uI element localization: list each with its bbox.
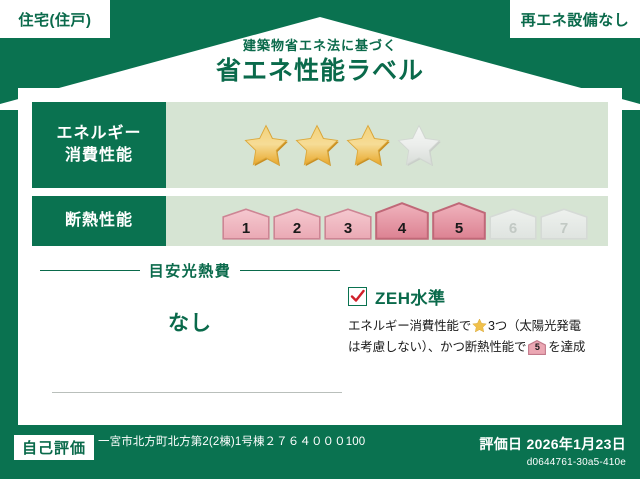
grade-number: 1	[222, 221, 270, 236]
grade-number: 6	[489, 221, 537, 236]
energy-performance-label-line1: エネルギー	[56, 123, 141, 145]
energy-performance-value	[166, 102, 608, 188]
header-title-block: 建築物省エネ法に基づく 省エネ性能ラベル	[0, 38, 640, 87]
energy-performance-label: エネルギー 消費性能	[32, 102, 166, 188]
insulation-performance-value: 1234567	[166, 196, 608, 246]
footer-date-block: 評価日 2026年1月23日 d0644761-30a5-410e	[479, 434, 626, 468]
utility-cost-rule-left	[40, 270, 140, 271]
footer-evaluation-date: 評価日 2026年1月23日	[479, 434, 626, 454]
insulation-grade-6: 6	[489, 208, 537, 240]
zeh-description: エネルギー消費性能で 3つ（太陽光発電は考慮しない）、かつ断熱性能で 5 を達成	[348, 316, 610, 357]
zeh-desc-star-count: 3つ（太陽光発電	[488, 319, 581, 333]
badge-building-type: 住宅(住戸)	[0, 0, 110, 38]
star-filled-icon	[346, 123, 390, 167]
grade-number: 3	[324, 221, 372, 236]
insulation-grade-7: 7	[540, 208, 588, 240]
badge-building-type-label: 住宅(住戸)	[19, 9, 92, 30]
insulation-grade-3: 3	[324, 208, 372, 240]
utility-cost-heading: 目安光熱費	[40, 260, 340, 281]
insulation-grade-2: 2	[273, 208, 321, 240]
check-icon	[350, 289, 365, 304]
inline-star-icon	[472, 318, 487, 333]
insulation-grade-1: 1	[222, 208, 270, 240]
footer: 自己評価 一宮市北方町北方第2(2棟)1号棟２７６４０００100 評価日 202…	[0, 425, 640, 479]
badge-renewable-energy-label: 再エネ設備なし	[521, 9, 630, 30]
zeh-desc-part3: を達成	[548, 340, 585, 354]
star-empty-icon	[397, 123, 441, 167]
utility-cost-underline	[52, 392, 342, 393]
header-title: 省エネ性能ラベル	[0, 56, 640, 87]
grade-number: 4	[375, 221, 429, 236]
inline-grade-badge: 5	[528, 340, 546, 355]
star-filled-icon	[295, 123, 339, 167]
grade-number: 2	[273, 221, 321, 236]
grade-number: 7	[540, 221, 588, 236]
zeh-block: ZEH水準 エネルギー消費性能で 3つ（太陽光発電は考慮しない）、かつ断熱性能で…	[348, 284, 610, 357]
grade-number: 5	[432, 221, 486, 236]
zeh-desc-part2: は考慮しない）、かつ断熱性能で	[348, 340, 526, 354]
inline-grade-number: 5	[528, 343, 546, 352]
footer-address: 一宮市北方町北方第2(2棟)1号棟２７６４０００100	[98, 434, 428, 451]
zeh-checkbox[interactable]	[348, 287, 367, 306]
zeh-title: ZEH水準	[375, 284, 446, 309]
star-filled-icon	[244, 123, 288, 167]
zeh-heading: ZEH水準	[348, 284, 610, 309]
footer-evaluation-type-label: 自己評価	[22, 437, 86, 458]
footer-evaluation-type-badge: 自己評価	[14, 435, 94, 460]
badge-renewable-energy: 再エネ設備なし	[510, 0, 640, 38]
label-card: エネルギー 消費性能 断熱性能 1234567 目安光熱費 なし	[18, 88, 622, 425]
insulation-performance-label-text: 断熱性能	[65, 210, 133, 232]
energy-performance-row: エネルギー 消費性能	[32, 102, 608, 188]
utility-cost-value: なし	[40, 307, 340, 337]
footer-document-id: d0644761-30a5-410e	[479, 457, 626, 468]
insulation-performance-label: 断熱性能	[32, 196, 166, 246]
zeh-desc-part1: エネルギー消費性能で	[348, 319, 471, 333]
star-rating	[244, 123, 441, 167]
utility-cost-heading-text: 目安光熱費	[149, 260, 232, 281]
insulation-grade-5: 5	[432, 202, 486, 240]
insulation-grade-list: 1234567	[222, 202, 588, 240]
utility-cost-rule-right	[240, 270, 340, 271]
insulation-performance-row: 断熱性能 1234567	[32, 196, 608, 246]
header-subtitle: 建築物省エネ法に基づく	[0, 38, 640, 54]
energy-performance-label-line2: 消費性能	[65, 145, 133, 167]
insulation-grade-4: 4	[375, 202, 429, 240]
energy-label-root: 住宅(住戸) 再エネ設備なし 建築物省エネ法に基づく 省エネ性能ラベル エネルギ…	[0, 0, 640, 479]
utility-cost-block: 目安光熱費 なし	[40, 260, 340, 337]
